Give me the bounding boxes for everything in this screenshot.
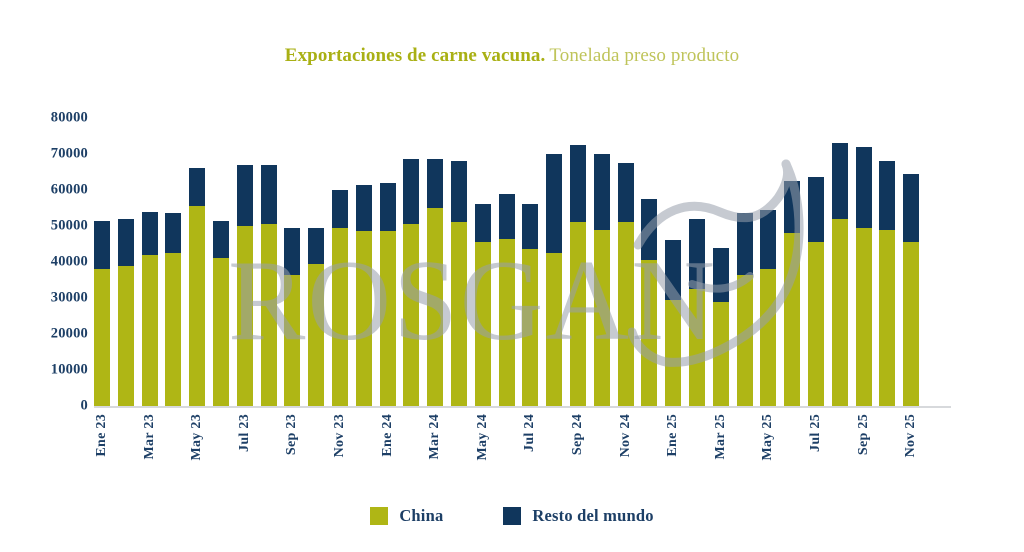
bar-segment-resto-del-mundo [737, 213, 753, 274]
bar-segment-china [213, 258, 229, 406]
bar-segment-china [94, 269, 110, 406]
x-axis-tick-label: Ene 23 [95, 414, 109, 457]
bar-segment-resto-del-mundo [165, 213, 181, 253]
x-axis-tick-label: Ene 24 [381, 414, 395, 457]
x-axis-tick-label: Mar 23 [143, 414, 157, 459]
bar-segment-resto-del-mundo [475, 204, 491, 242]
bar-segment-resto-del-mundo [713, 248, 729, 302]
bar-abr-24[interactable] [451, 161, 467, 406]
chart-title-subtitle: Tonelada preso producto [549, 45, 739, 66]
bar-segment-resto-del-mundo [427, 159, 443, 208]
bar-mar-24[interactable] [427, 159, 443, 406]
y-axis-tick-label: 10000 [12, 362, 88, 379]
bar-segment-china [475, 242, 491, 406]
legend-item-resto-del-mundo[interactable]: Resto del mundo [503, 506, 653, 526]
bar-nov-25[interactable] [903, 174, 919, 406]
bar-segment-china [903, 242, 919, 406]
bar-segment-china [594, 230, 610, 406]
bar-sep-25[interactable] [856, 147, 872, 406]
bar-segment-china [284, 275, 300, 406]
bar-segment-resto-del-mundo [261, 165, 277, 224]
bar-dic-24[interactable] [641, 199, 657, 406]
bar-segment-resto-del-mundo [546, 154, 562, 253]
bar-mar-25[interactable] [713, 248, 729, 406]
bar-nov-23[interactable] [332, 190, 348, 406]
bar-segment-china [427, 208, 443, 406]
y-axis-tick-label: 70000 [12, 146, 88, 163]
bar-segment-china [332, 228, 348, 406]
x-axis-tick-label: Jul 23 [238, 414, 252, 452]
legend-item-china[interactable]: China [370, 506, 443, 526]
legend-label: Resto del mundo [532, 506, 653, 526]
bar-segment-china [118, 266, 134, 406]
bar-segment-resto-del-mundo [641, 199, 657, 260]
y-axis-tick-label: 20000 [12, 326, 88, 343]
bar-ago-24[interactable] [546, 154, 562, 406]
x-axis-tick-label: Sep 23 [285, 414, 299, 455]
legend-swatch-icon [370, 507, 388, 525]
x-axis-tick-label: Mar 24 [428, 414, 442, 459]
bar-segment-china [165, 253, 181, 406]
bar-segment-china [689, 289, 705, 406]
bar-oct-23[interactable] [308, 228, 324, 406]
bar-segment-resto-del-mundo [451, 161, 467, 222]
x-axis-tick-label: Nov 25 [904, 414, 918, 457]
y-axis: 0100002000030000400005000060000700008000… [0, 0, 88, 552]
bar-segment-resto-del-mundo [594, 154, 610, 230]
bar-dic-23[interactable] [356, 185, 372, 406]
bar-jun-23[interactable] [213, 221, 229, 406]
bar-segment-resto-del-mundo [570, 145, 586, 222]
bar-segment-resto-del-mundo [832, 143, 848, 219]
y-axis-tick-label: 80000 [12, 110, 88, 127]
bar-ene-23[interactable] [94, 221, 110, 406]
bar-segment-resto-del-mundo [118, 219, 134, 266]
chart-page: Exportaciones de carne vacuna.Tonelada p… [0, 0, 1024, 552]
bar-segment-resto-del-mundo [903, 174, 919, 242]
x-axis-tick-label: Sep 25 [857, 414, 871, 455]
x-axis-tick-label: Nov 24 [619, 414, 633, 457]
bar-feb-24[interactable] [403, 159, 419, 406]
bar-segment-resto-del-mundo [689, 219, 705, 289]
bar-jul-25[interactable] [808, 177, 824, 406]
bar-jul-23[interactable] [237, 165, 253, 406]
x-axis-tick-label: May 23 [190, 414, 204, 461]
x-axis-tick-label: Sep 24 [571, 414, 585, 455]
bar-segment-resto-del-mundo [237, 165, 253, 226]
bar-segment-resto-del-mundo [760, 210, 776, 269]
plot-area [94, 118, 950, 406]
bar-segment-resto-del-mundo [522, 204, 538, 249]
bar-segment-resto-del-mundo [213, 221, 229, 259]
bar-segment-china [261, 224, 277, 406]
bar-segment-resto-del-mundo [308, 228, 324, 264]
bar-segment-resto-del-mundo [403, 159, 419, 224]
bar-segment-china [499, 239, 515, 406]
bar-segment-resto-del-mundo [856, 147, 872, 228]
bar-segment-resto-del-mundo [284, 228, 300, 275]
bar-segment-china [665, 300, 681, 406]
bar-mar-23[interactable] [142, 212, 158, 406]
bar-segment-resto-del-mundo [189, 168, 205, 206]
bar-sep-23[interactable] [284, 228, 300, 406]
bar-jun-24[interactable] [499, 194, 515, 406]
bar-nov-24[interactable] [618, 163, 634, 406]
bar-segment-china [737, 275, 753, 406]
bar-segment-china [713, 302, 729, 406]
bar-segment-resto-del-mundo [142, 212, 158, 255]
bar-segment-resto-del-mundo [332, 190, 348, 228]
bar-segment-resto-del-mundo [499, 194, 515, 239]
bar-abr-25[interactable] [737, 213, 753, 406]
bar-ene-25[interactable] [665, 240, 681, 406]
bar-jul-24[interactable] [522, 204, 538, 406]
bar-segment-china [808, 242, 824, 406]
bar-segment-resto-del-mundo [94, 221, 110, 270]
bar-segment-resto-del-mundo [784, 181, 800, 233]
chart-legend: ChinaResto del mundo [0, 506, 1024, 526]
x-axis-baseline [94, 406, 951, 408]
bar-segment-china [546, 253, 562, 406]
x-axis-tick-label: Ene 25 [666, 414, 680, 457]
bar-feb-25[interactable] [689, 219, 705, 406]
x-axis-tick-label: Jul 24 [523, 414, 537, 452]
legend-label: China [399, 506, 443, 526]
bar-jun-25[interactable] [784, 181, 800, 406]
bar-segment-china [570, 222, 586, 406]
legend-swatch-icon [503, 507, 521, 525]
bar-ago-23[interactable] [261, 165, 277, 406]
bar-may-25[interactable] [760, 210, 776, 406]
bar-oct-24[interactable] [594, 154, 610, 406]
bar-segment-china [856, 228, 872, 406]
bar-segment-resto-del-mundo [879, 161, 895, 229]
bar-feb-23[interactable] [118, 219, 134, 406]
bar-oct-25[interactable] [879, 161, 895, 406]
chart-title: Exportaciones de carne vacuna.Tonelada p… [0, 45, 1024, 67]
bar-segment-china [784, 233, 800, 406]
bar-ago-25[interactable] [832, 143, 848, 406]
bar-segment-china [522, 249, 538, 406]
bar-segment-resto-del-mundo [665, 240, 681, 299]
x-axis-tick-label: Mar 25 [714, 414, 728, 459]
chart-title-main: Exportaciones de carne vacuna. [285, 45, 546, 66]
bar-segment-china [618, 222, 634, 406]
x-axis-tick-label: May 25 [761, 414, 775, 461]
bar-segment-china [142, 255, 158, 406]
bar-may-24[interactable] [475, 204, 491, 406]
bar-segment-china [641, 260, 657, 406]
bar-segment-china [308, 264, 324, 406]
bar-segment-resto-del-mundo [380, 183, 396, 232]
bar-segment-china [403, 224, 419, 406]
x-axis-tick-label: May 24 [476, 414, 490, 461]
bar-segment-resto-del-mundo [356, 185, 372, 232]
y-axis-tick-label: 60000 [12, 182, 88, 199]
y-axis-tick-label: 40000 [12, 254, 88, 271]
bar-segment-resto-del-mundo [618, 163, 634, 222]
bar-segment-china [760, 269, 776, 406]
bar-segment-china [189, 206, 205, 406]
bar-segment-china [879, 230, 895, 406]
bar-sep-24[interactable] [570, 145, 586, 406]
x-axis-tick-label: Jul 25 [809, 414, 823, 452]
x-axis-tick-label: Nov 23 [333, 414, 347, 457]
bar-segment-resto-del-mundo [808, 177, 824, 242]
bar-abr-23[interactable] [165, 213, 181, 406]
y-axis-tick-label: 30000 [12, 290, 88, 307]
bar-may-23[interactable] [189, 168, 205, 406]
bar-segment-china [237, 226, 253, 406]
bar-segment-china [356, 231, 372, 406]
bar-segment-china [451, 222, 467, 406]
y-axis-tick-label: 50000 [12, 218, 88, 235]
y-axis-tick-label: 0 [12, 398, 88, 415]
bar-ene-24[interactable] [380, 183, 396, 406]
bar-segment-china [380, 231, 396, 406]
bar-segment-china [832, 219, 848, 406]
